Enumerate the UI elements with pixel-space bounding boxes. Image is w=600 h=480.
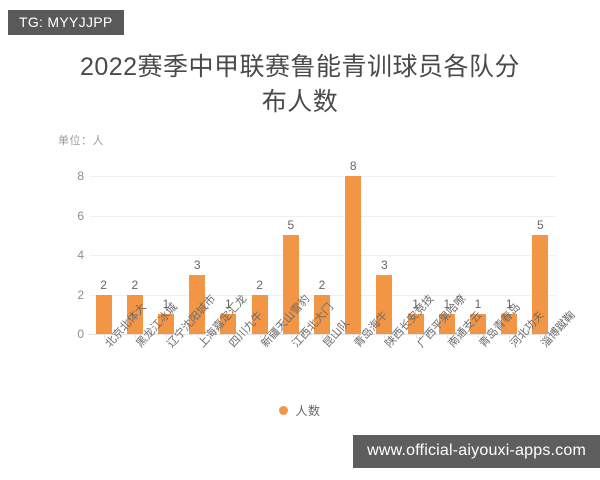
legend-label: 人数 [295,402,320,419]
legend-swatch-icon [279,406,288,415]
chart-legend: 人数 [0,402,600,419]
bar-value-label: 5 [276,218,306,232]
bar-value-label: 5 [525,218,555,232]
y-tick-label: 4 [60,248,84,262]
bar-value-label: 2 [120,278,150,292]
bar-value-label: 3 [182,258,212,272]
y-tick-label: 6 [60,209,84,223]
bar-value-label: 8 [338,159,368,173]
gridline [90,255,556,256]
y-tick-label: 0 [60,327,84,341]
gridline [90,176,556,177]
bar-value-label: 2 [307,278,337,292]
tg-tag-badge: TG: MYYJJPP [8,10,124,35]
gridline [90,216,556,217]
bar[interactable] [96,295,112,335]
bar-value-label: 2 [245,278,275,292]
bar[interactable] [345,176,361,334]
bar-value-label: 3 [369,258,399,272]
watermark-badge: www.official-aiyouxi-apps.com [353,435,600,468]
y-tick-label: 8 [60,169,84,183]
bar-value-label: 2 [89,278,119,292]
y-tick-label: 2 [60,288,84,302]
